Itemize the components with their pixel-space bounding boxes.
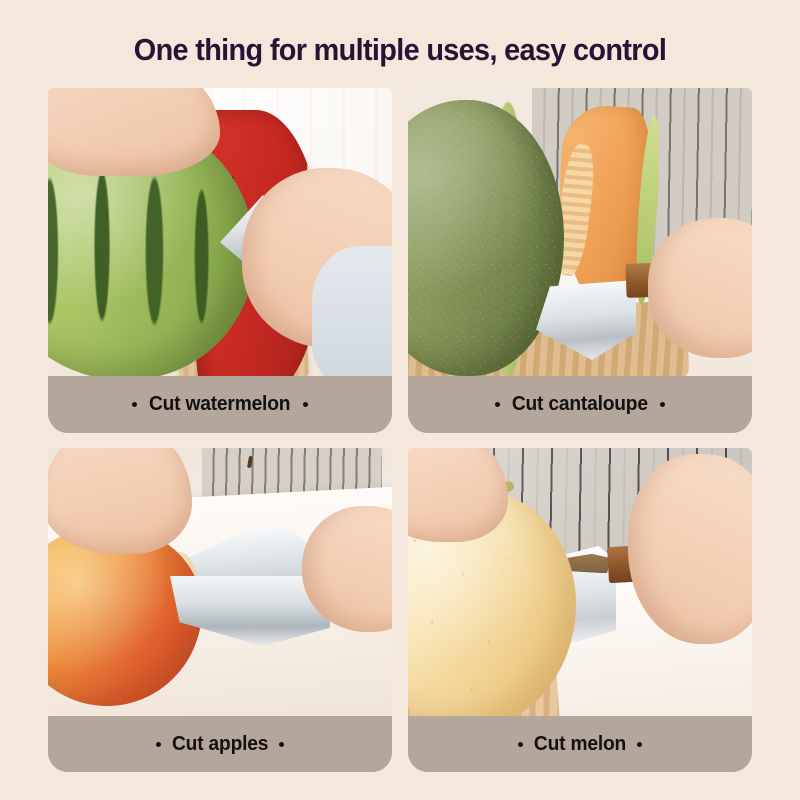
bullet-dot-left-icon	[132, 402, 137, 407]
photo-cut-watermelon	[48, 88, 392, 376]
caption-label: Cut cantaloupe	[512, 393, 648, 416]
bullet-dot-left-icon	[156, 742, 161, 747]
left-hand	[48, 88, 220, 176]
bullet-dot-right-icon	[303, 402, 308, 407]
page-title: One thing for multiple uses, easy contro…	[28, 32, 772, 68]
photo-cut-melon	[408, 448, 752, 716]
feature-grid: Cut watermelon Cut cantaloupe	[48, 88, 752, 772]
caption-label: Cut apples	[172, 733, 268, 756]
caption-bar-cut-melon: Cut melon	[408, 716, 752, 772]
left-hand	[408, 448, 508, 542]
caption-label: Cut melon	[534, 733, 626, 756]
photo-cut-apples	[48, 448, 392, 716]
bullet-dot-right-icon	[279, 742, 284, 747]
left-hand	[48, 448, 192, 554]
feature-card-cut-cantaloupe[interactable]: Cut cantaloupe	[408, 88, 752, 433]
caption-bar-cut-apples: Cut apples	[48, 716, 392, 772]
feature-card-cut-melon[interactable]: Cut melon	[408, 448, 752, 772]
feature-card-cut-apples[interactable]: Cut apples	[48, 448, 392, 772]
bullet-dot-right-icon	[637, 742, 642, 747]
feature-card-cut-watermelon[interactable]: Cut watermelon	[48, 88, 392, 433]
sleeve	[312, 246, 392, 376]
bullet-dot-left-icon	[518, 742, 523, 747]
photo-cut-cantaloupe	[408, 88, 752, 376]
bullet-dot-left-icon	[495, 402, 500, 407]
caption-bar-cut-cantaloupe: Cut cantaloupe	[408, 376, 752, 433]
caption-label: Cut watermelon	[149, 393, 290, 416]
caption-bar-cut-watermelon: Cut watermelon	[48, 376, 392, 433]
bullet-dot-right-icon	[660, 402, 665, 407]
